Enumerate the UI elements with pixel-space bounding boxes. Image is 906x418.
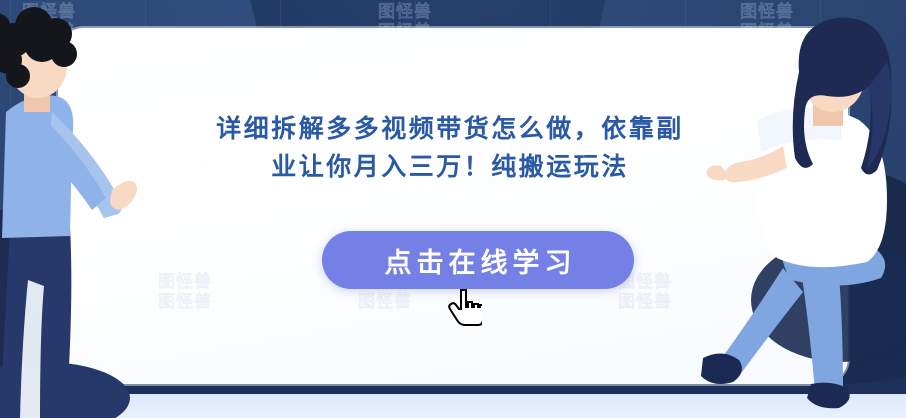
title-line-2: 业让你月入三万！纯搬运玩法 <box>130 148 770 186</box>
student-back-shoe <box>701 353 742 384</box>
banner-title: 详细拆解多多视频带货怎么做，依靠副 业让你月入三万！纯搬运玩法 <box>130 110 770 186</box>
watermark-mark: 图怪兽 <box>358 294 412 311</box>
title-line-1: 详细拆解多多视频带货怎么做，依靠副 <box>130 110 770 148</box>
watermark-mark: 图怪兽 <box>378 4 432 21</box>
student-front-shoe <box>807 383 850 409</box>
illustration-presenter-left <box>0 0 175 418</box>
banner-image: 图怪兽 图怪兽 图怪兽 图怪兽 图怪兽 图怪兽 图怪兽 图怪兽 图怪兽 图怪兽 … <box>0 0 906 418</box>
cta-online-learn-button[interactable]: 点击在线学习 <box>322 231 634 289</box>
illustration-student-right <box>691 0 906 418</box>
watermark-mark: 图怪兽 <box>618 294 672 311</box>
